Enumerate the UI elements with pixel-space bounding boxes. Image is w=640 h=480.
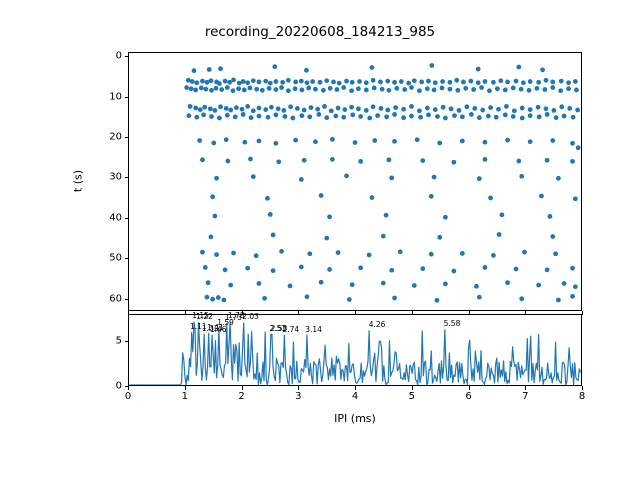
scatter-point <box>556 176 561 181</box>
scatter-point <box>233 114 238 119</box>
scatter-point <box>322 104 327 109</box>
scatter-point <box>324 78 329 83</box>
scatter-point <box>336 106 341 111</box>
scatter-point <box>299 265 304 270</box>
scatter-point <box>280 80 285 85</box>
scatter-point <box>571 115 576 120</box>
scatter-point <box>570 266 575 271</box>
scatter-point <box>208 106 213 111</box>
scatter-point <box>217 116 222 121</box>
scatter-point <box>381 234 386 239</box>
scatter-point <box>550 85 555 90</box>
scatter-point <box>486 114 491 119</box>
scatter-point <box>281 108 286 113</box>
scatter-point <box>384 114 389 119</box>
scatter-plot-canvas <box>129 53 581 310</box>
scatter-point <box>350 112 355 117</box>
scatter-point <box>545 158 550 163</box>
scatter-point <box>528 79 533 84</box>
scatter-point <box>380 87 385 92</box>
scatter-point <box>500 212 505 217</box>
scatter-point <box>274 79 279 84</box>
scatter-point <box>234 105 239 110</box>
scatter-point <box>435 114 440 119</box>
scatter-point <box>305 80 310 85</box>
scatter-point <box>392 112 397 117</box>
scatter-point <box>350 282 355 287</box>
scatter-point <box>519 87 524 92</box>
scatter-point <box>573 284 578 289</box>
scatter-point <box>417 88 422 93</box>
scatter-point <box>349 88 354 93</box>
scatter-point <box>385 79 390 84</box>
scatter-point <box>392 80 397 85</box>
scatter-point <box>559 104 564 109</box>
x-tick-label: 2 <box>238 391 244 402</box>
scatter-point <box>558 88 563 93</box>
scatter-point <box>286 88 291 93</box>
scatter-point <box>548 214 553 219</box>
scatter-point <box>463 86 468 91</box>
scatter-point <box>299 177 304 182</box>
scatter-point <box>418 115 423 120</box>
scatter-point <box>440 79 445 84</box>
scatter-point <box>392 139 397 144</box>
scatter-point <box>443 215 448 220</box>
scatter-point <box>483 79 488 84</box>
scatter-point <box>194 80 199 85</box>
scatter-point <box>384 213 389 218</box>
scatter-point <box>401 115 406 120</box>
scatter-point <box>300 113 305 118</box>
y-tick-label: 60 <box>92 293 122 304</box>
scatter-point <box>276 159 281 164</box>
scatter-point <box>358 159 363 164</box>
scatter-point <box>263 107 268 112</box>
scatter-point <box>272 64 277 69</box>
scatter-point <box>310 79 315 84</box>
histogram-line <box>130 322 581 385</box>
scatter-point <box>242 140 247 145</box>
scatter-point <box>545 112 550 117</box>
scatter-point <box>441 105 446 110</box>
y-tick-label: 10 <box>92 91 122 102</box>
scatter-point <box>214 86 219 91</box>
scatter-point <box>330 137 335 142</box>
scatter-point <box>223 267 228 272</box>
histogram-y-tick-mark <box>125 341 129 342</box>
scatter-point <box>519 296 524 301</box>
scatter-point <box>286 78 291 83</box>
scatter-point <box>211 141 216 146</box>
scatter-point <box>324 115 329 120</box>
scatter-point <box>313 87 318 92</box>
scatter-point <box>476 80 481 85</box>
scatter-point <box>224 137 229 142</box>
scatter-point <box>536 283 541 288</box>
scatter-point <box>521 80 526 85</box>
scatter-point <box>200 250 205 255</box>
x-tick-label: 8 <box>579 391 585 402</box>
scatter-point <box>210 297 215 302</box>
scatter-point <box>409 114 414 119</box>
y-tick-label: 40 <box>92 212 122 223</box>
scatter-point <box>401 107 406 112</box>
scatter-point <box>511 86 516 91</box>
scatter-point <box>209 88 214 93</box>
scatter-point <box>299 79 304 84</box>
scatter-point <box>225 159 230 164</box>
scatter-point <box>454 78 459 83</box>
scatter-point <box>497 232 502 237</box>
scatter-point <box>353 140 358 145</box>
scatter-point <box>327 267 332 272</box>
scatter-point <box>341 115 346 120</box>
scatter-point <box>236 86 241 91</box>
scatter-point <box>477 295 482 300</box>
scatter-point <box>248 157 253 162</box>
scatter-point <box>542 87 547 92</box>
scatter-point <box>274 141 279 146</box>
scatter-point <box>231 88 236 93</box>
scatter-point <box>206 280 211 285</box>
scatter-point <box>398 249 403 254</box>
scatter-point <box>393 105 398 110</box>
scatter-point <box>491 253 496 258</box>
scatter-point <box>406 81 411 86</box>
x-tick-mark <box>355 386 356 390</box>
scatter-point <box>488 105 493 110</box>
scatter-point <box>551 108 556 113</box>
y-tick-label: 0 <box>92 51 122 62</box>
scatter-point <box>562 114 567 119</box>
scatter-point <box>219 87 224 92</box>
scatter-point <box>199 86 204 91</box>
scatter-point <box>479 85 484 90</box>
scatter-point <box>227 80 232 85</box>
scatter-point <box>448 87 453 92</box>
scatter-point <box>218 104 223 109</box>
scatter-point <box>570 141 575 146</box>
x-tick-label: 1 <box>182 391 188 402</box>
scatter-point <box>336 250 341 255</box>
scatter-point <box>417 108 422 113</box>
scatter-point <box>522 250 527 255</box>
scatter-point <box>389 268 394 273</box>
scatter-point <box>520 116 525 121</box>
scatter-point <box>209 78 214 83</box>
y-tick-mark <box>125 137 129 138</box>
scatter-point <box>448 80 453 85</box>
scatter-point <box>429 194 434 199</box>
scatter-point <box>371 78 376 83</box>
scatter-point <box>370 195 375 200</box>
scatter-point <box>201 112 206 117</box>
scatter-point <box>451 269 456 274</box>
histogram-y-tick-label: 0 <box>92 381 122 392</box>
y-tick-mark <box>125 299 129 300</box>
scatter-point <box>241 112 246 117</box>
scatter-point <box>207 67 212 72</box>
scatter-point <box>574 88 579 93</box>
scatter-point <box>420 158 425 163</box>
x-tick-label: 0 <box>125 391 131 402</box>
scatter-point <box>483 157 488 162</box>
scatter-point <box>344 173 349 178</box>
scatter-point <box>265 196 270 201</box>
scatter-point <box>514 79 519 84</box>
x-tick-label: 5 <box>409 391 415 402</box>
scatter-point <box>573 79 578 84</box>
scatter-point <box>290 116 295 121</box>
scatter-point <box>189 86 194 91</box>
scatter-point <box>218 66 223 71</box>
scatter-point <box>554 115 559 120</box>
scatter-point <box>503 88 508 93</box>
scatter-point <box>566 86 571 91</box>
scatter-point <box>319 280 324 285</box>
scatter-point <box>483 265 488 270</box>
scatter-point <box>224 106 229 111</box>
scatter-point <box>426 112 431 117</box>
scatter-point <box>573 196 578 201</box>
scatter-point <box>433 107 438 112</box>
scatter-point <box>231 251 236 256</box>
scatter-point <box>342 107 347 112</box>
scatter-point <box>214 176 219 181</box>
scatter-point <box>318 80 323 85</box>
scatter-point <box>193 88 198 93</box>
scatter-point <box>449 106 454 111</box>
scatter-point <box>184 85 189 90</box>
scatter-point <box>198 107 203 112</box>
scatter-point <box>553 251 558 256</box>
scatter-point <box>387 157 392 162</box>
x-tick-mark <box>185 386 186 390</box>
scatter-point <box>402 87 407 92</box>
y-tick-mark <box>125 56 129 57</box>
scatter-point <box>433 80 438 85</box>
scatter-point <box>279 85 284 90</box>
x-tick-label: 3 <box>295 391 301 402</box>
scatter-point <box>263 79 268 84</box>
scatter-point <box>293 86 298 91</box>
scatter-point <box>313 139 318 144</box>
y-tick-mark <box>125 218 129 219</box>
scatter-point <box>570 159 575 164</box>
scatter-point <box>288 284 293 289</box>
x-tick-label: 4 <box>352 391 358 402</box>
scatter-point <box>528 113 533 118</box>
scatter-point <box>344 79 349 84</box>
scatter-point <box>498 78 503 83</box>
scatter-point <box>535 86 540 91</box>
scatter-point <box>496 107 501 112</box>
scatter-point <box>306 86 311 91</box>
scatter-point <box>245 104 250 109</box>
scatter-point <box>327 214 332 219</box>
scatter-x-tick-mark <box>582 311 583 315</box>
matplotlib-figure: recording_20220608_184213_985 t (s) 0102… <box>0 0 640 480</box>
scatter-point <box>429 252 434 257</box>
scatter-point <box>228 108 233 113</box>
scatter-point <box>567 106 572 111</box>
scatter-point <box>266 115 271 120</box>
scatter-point <box>302 158 307 163</box>
scatter-point <box>274 112 279 117</box>
x-tick-mark <box>298 386 299 390</box>
scatter-point <box>491 80 496 85</box>
scatter-point <box>412 78 417 83</box>
scatter-point <box>556 298 561 303</box>
scatter-point <box>241 79 246 84</box>
scatter-point <box>187 113 192 118</box>
y-tick-label: 30 <box>92 172 122 183</box>
scatter-point <box>367 253 372 258</box>
scatter-point <box>539 194 544 199</box>
scatter-point <box>440 86 445 91</box>
scatter-point <box>225 113 230 118</box>
scatter-point <box>331 80 336 85</box>
scatter-point <box>570 294 575 299</box>
scatter-point <box>562 281 567 286</box>
scatter-point <box>520 106 525 111</box>
scatter-point <box>488 196 493 201</box>
scatter-point <box>389 176 394 181</box>
scatter-point <box>240 107 245 112</box>
scatter-point <box>267 86 272 91</box>
x-tick-mark <box>128 386 129 390</box>
scatter-point <box>209 235 214 240</box>
scatter-point <box>190 79 195 84</box>
scatter-point <box>372 86 377 91</box>
scatter-point <box>316 112 321 117</box>
scatter-point <box>461 80 466 85</box>
scatter-point <box>494 115 499 120</box>
scatter-point <box>257 281 262 286</box>
scatter-point <box>536 80 541 85</box>
scatter-point <box>375 113 380 118</box>
scatter-point <box>330 157 335 162</box>
scatter-point <box>540 67 545 72</box>
scatter-point <box>262 296 267 301</box>
scatter-point <box>429 63 434 68</box>
x-tick-mark <box>242 386 243 390</box>
scatter-point <box>471 87 476 92</box>
scatter-point <box>307 114 312 119</box>
scatter-point <box>293 80 298 85</box>
scatter-point <box>527 88 532 93</box>
scatter-point <box>257 80 262 85</box>
scatter-point <box>231 78 236 83</box>
y-tick-label: 20 <box>92 131 122 142</box>
scatter-point <box>300 88 305 93</box>
scatter-point <box>203 265 208 270</box>
histogram-peak-label: 1.22 <box>196 312 213 321</box>
scatter-point <box>212 214 217 219</box>
scatter-point <box>283 114 288 119</box>
x-tick-mark <box>525 386 526 390</box>
histogram-peak-label: 2.03 <box>242 312 259 321</box>
scatter-point <box>477 176 482 181</box>
scatter-point <box>197 138 202 143</box>
scatter-point <box>437 141 442 146</box>
scatter-point <box>364 80 369 85</box>
scatter-point <box>420 266 425 271</box>
scatter-point <box>251 174 256 179</box>
scatter-point <box>254 87 259 92</box>
scatter-point <box>200 79 205 84</box>
scatter-point <box>302 108 307 113</box>
y-tick-mark <box>125 177 129 178</box>
scatter-point <box>425 86 430 91</box>
scatter-point <box>392 296 397 301</box>
scatter-point <box>544 106 549 111</box>
scatter-point <box>328 86 333 91</box>
scatter-point <box>324 236 329 241</box>
scatter-point <box>260 88 265 93</box>
scatter-point <box>480 108 485 113</box>
scatter-point <box>341 85 346 90</box>
scatter-point <box>279 249 284 254</box>
histogram-peak-label: 5.58 <box>444 319 461 328</box>
x-tick-mark <box>469 386 470 390</box>
scatter-point <box>315 107 320 112</box>
x-tick-label: 6 <box>465 391 471 402</box>
scatter-point <box>200 157 205 162</box>
scatter-point <box>435 298 440 303</box>
scatter-point <box>505 280 510 285</box>
scatter-point <box>319 193 324 198</box>
scatter-point <box>536 105 541 110</box>
scatter-point <box>512 108 517 113</box>
scatter-point <box>469 112 474 117</box>
scatter-point <box>371 104 376 109</box>
scatter-point <box>394 86 399 91</box>
scatter-point <box>443 116 448 121</box>
scatter-point <box>217 81 222 86</box>
scatter-point <box>511 114 516 119</box>
scatter-point <box>268 212 273 217</box>
scatter-point <box>559 79 564 84</box>
scatter-point <box>349 105 354 110</box>
scatter-point <box>550 234 555 239</box>
scatter-point <box>370 65 375 70</box>
scatter-point <box>399 79 404 84</box>
scatter-point <box>476 67 481 72</box>
scatter-point <box>248 86 253 91</box>
scatter-point <box>225 85 230 90</box>
scatter-point <box>216 295 221 300</box>
scatter-point <box>519 174 524 179</box>
scatter-point <box>249 115 254 120</box>
scatter-point <box>460 139 465 144</box>
scatter-point <box>288 104 293 109</box>
scatter-point <box>222 298 227 303</box>
scatter-point <box>357 79 362 84</box>
scatter-point <box>516 65 521 70</box>
scatter-point <box>307 251 312 256</box>
scatter-point <box>504 104 509 109</box>
scatter-point <box>242 88 247 93</box>
scatter-point <box>495 86 500 91</box>
scatter-point <box>329 108 334 113</box>
scatter-point <box>487 88 492 93</box>
scatter-point <box>545 267 550 272</box>
scatter-point <box>451 160 456 165</box>
scatter-point <box>409 104 414 109</box>
scatter-point <box>412 283 417 288</box>
